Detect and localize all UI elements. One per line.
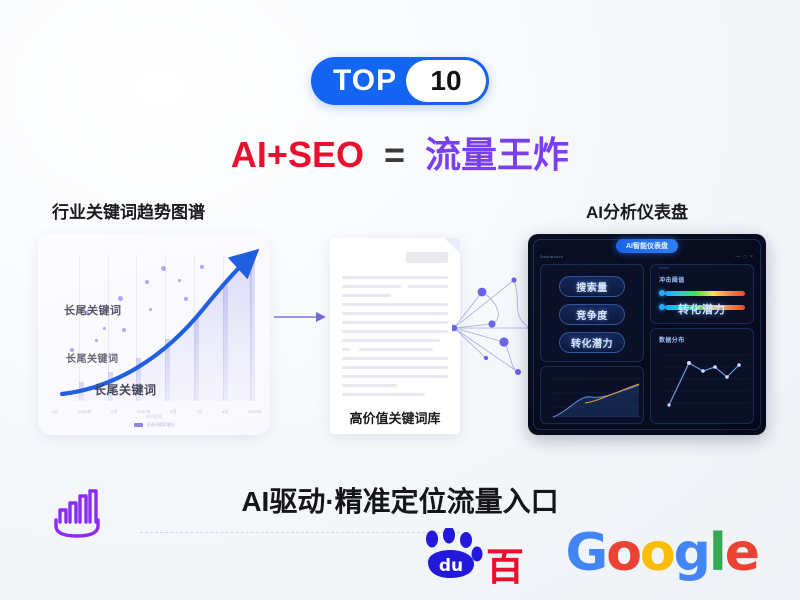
top-badge-label: TOP (333, 64, 397, 98)
distribution-chart-panel: 数据分布 (650, 328, 754, 424)
search-engine-logos: du 百度 G o o g l e (418, 520, 758, 586)
baidu-du-text: du (439, 556, 463, 576)
doc-text-lines (342, 276, 448, 402)
area-chart (541, 367, 645, 425)
caption-left: 行业关键词趋势图谱 (52, 198, 205, 223)
google-letter-l: l (709, 523, 725, 583)
flow-arrow-icon (274, 310, 326, 324)
caption-right: AI分析仪表盘 (586, 198, 688, 223)
trend-plot: 长尾关键词 长尾关键词 长尾关键词 (54, 246, 260, 401)
window-controls[interactable]: — □ × (735, 254, 754, 260)
trend-area-and-arrow (54, 246, 260, 401)
legend-label: 关键词搜索增长 (147, 422, 175, 428)
google-letter-e: e (725, 523, 758, 583)
page-title: AI+SEO = 流量王炸 (0, 126, 800, 178)
google-logo: G o o g l e (566, 523, 759, 583)
google-letter-g1: G (566, 523, 607, 583)
gauge-bar-1 (665, 291, 745, 296)
bar-chart-icon (46, 486, 108, 544)
trend-legend: 关键词搜索增长 (38, 422, 270, 428)
trend-x-title: 时间区间 (38, 414, 270, 420)
threshold-gauge-panel: Index 冲击阈值 转化潜力 (650, 264, 754, 324)
top-badge-number: 10 (406, 60, 486, 102)
google-letter-o2: o (640, 523, 674, 583)
gauge-title: 冲击阈值 (659, 275, 685, 284)
doc-header-chip (406, 252, 448, 263)
keyword-network-graph (452, 272, 538, 384)
metric-pills-panel: 搜索量 竞争度 转化潜力 (540, 264, 644, 362)
connector-dashed-line (140, 532, 460, 533)
google-letter-o1: o (606, 523, 640, 583)
pill-conversion-potential[interactable]: 转化潜力 (559, 332, 625, 353)
bottom-slogan: AI驱动·精准定位流量入口 (0, 480, 800, 520)
trend-area-panel (540, 366, 644, 424)
ai-dashboard-panel: AI智能仪表盘 Dashboard — □ × 搜索量 竞争度 转化潜力 Ind… (528, 234, 766, 435)
gauge-subtitle: Index (659, 266, 669, 270)
title-right: 流量王炸 (425, 134, 569, 175)
title-equals: = (384, 134, 405, 175)
trend-label-3: 长尾关键词 (94, 381, 157, 398)
doc-caption: 高价值关键词库 (330, 408, 460, 427)
dashboard-title-badge: AI智能仪表盘 (616, 239, 678, 253)
top-rank-badge: TOP 10 (311, 57, 489, 105)
baidu-paw-icon: du (418, 528, 484, 584)
line-chart (651, 343, 755, 435)
keyword-trend-card: 长尾关键词 长尾关键词 长尾关键词 4月 2020年 5月 2021年 6月 7… (38, 234, 270, 435)
pill-search-volume[interactable]: 搜索量 (559, 276, 625, 297)
trend-label-2: 长尾关键词 (66, 350, 119, 365)
keyword-library-card: 高价值关键词库 (330, 238, 460, 434)
gauge-marker-1 (659, 290, 665, 296)
baidu-logo: du 百度 (418, 524, 556, 582)
legend-swatch (134, 423, 143, 427)
pill-competition[interactable]: 竞争度 (559, 304, 625, 325)
google-letter-g2: g (674, 523, 709, 583)
title-left: AI+SEO (231, 134, 364, 175)
dashboard-meta-left: Dashboard (540, 254, 563, 259)
trend-label-1: 长尾关键词 (64, 302, 122, 318)
gauge-overlay-label: 转化潜力 (651, 301, 753, 317)
baidu-wordmark: 百度 (486, 536, 556, 600)
